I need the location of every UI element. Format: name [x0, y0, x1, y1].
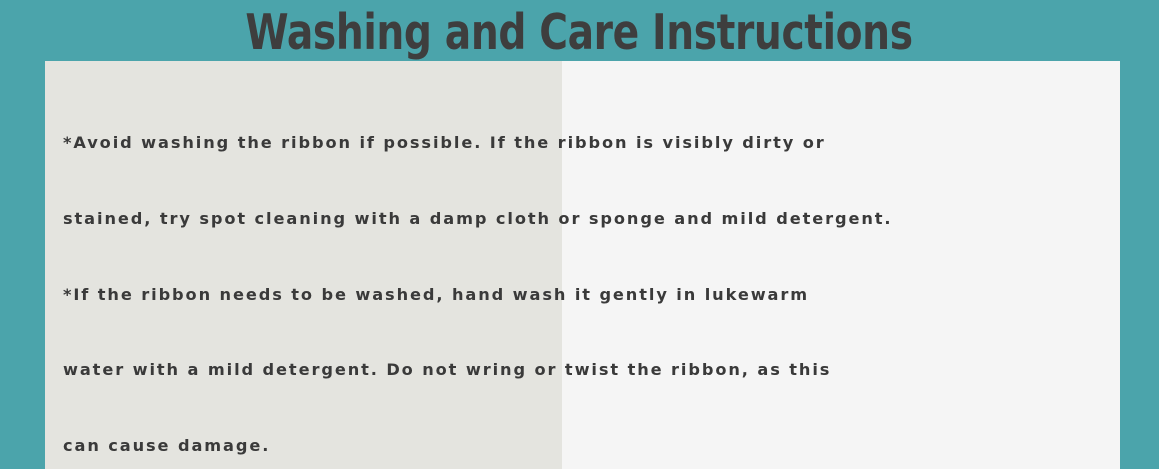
instruction-line: water with a mild detergent. Do not wrin… — [63, 357, 1123, 382]
instruction-line: *If the ribbon needs to be washed, hand … — [63, 282, 1123, 307]
instruction-line: stained, try spot cleaning with a damp c… — [63, 206, 1123, 231]
instruction-line: *Avoid washing the ribbon if possible. I… — [63, 130, 1123, 155]
title-bar: Washing and Care Instructions — [0, 0, 1159, 61]
poster-canvas: Washing and Care Instructions *Avoid was… — [0, 0, 1159, 469]
instructions-text-block: *Avoid washing the ribbon if possible. I… — [63, 80, 1123, 460]
instruction-line: can cause damage. — [63, 433, 1123, 458]
page-title: Washing and Care Instructions — [246, 7, 913, 59]
